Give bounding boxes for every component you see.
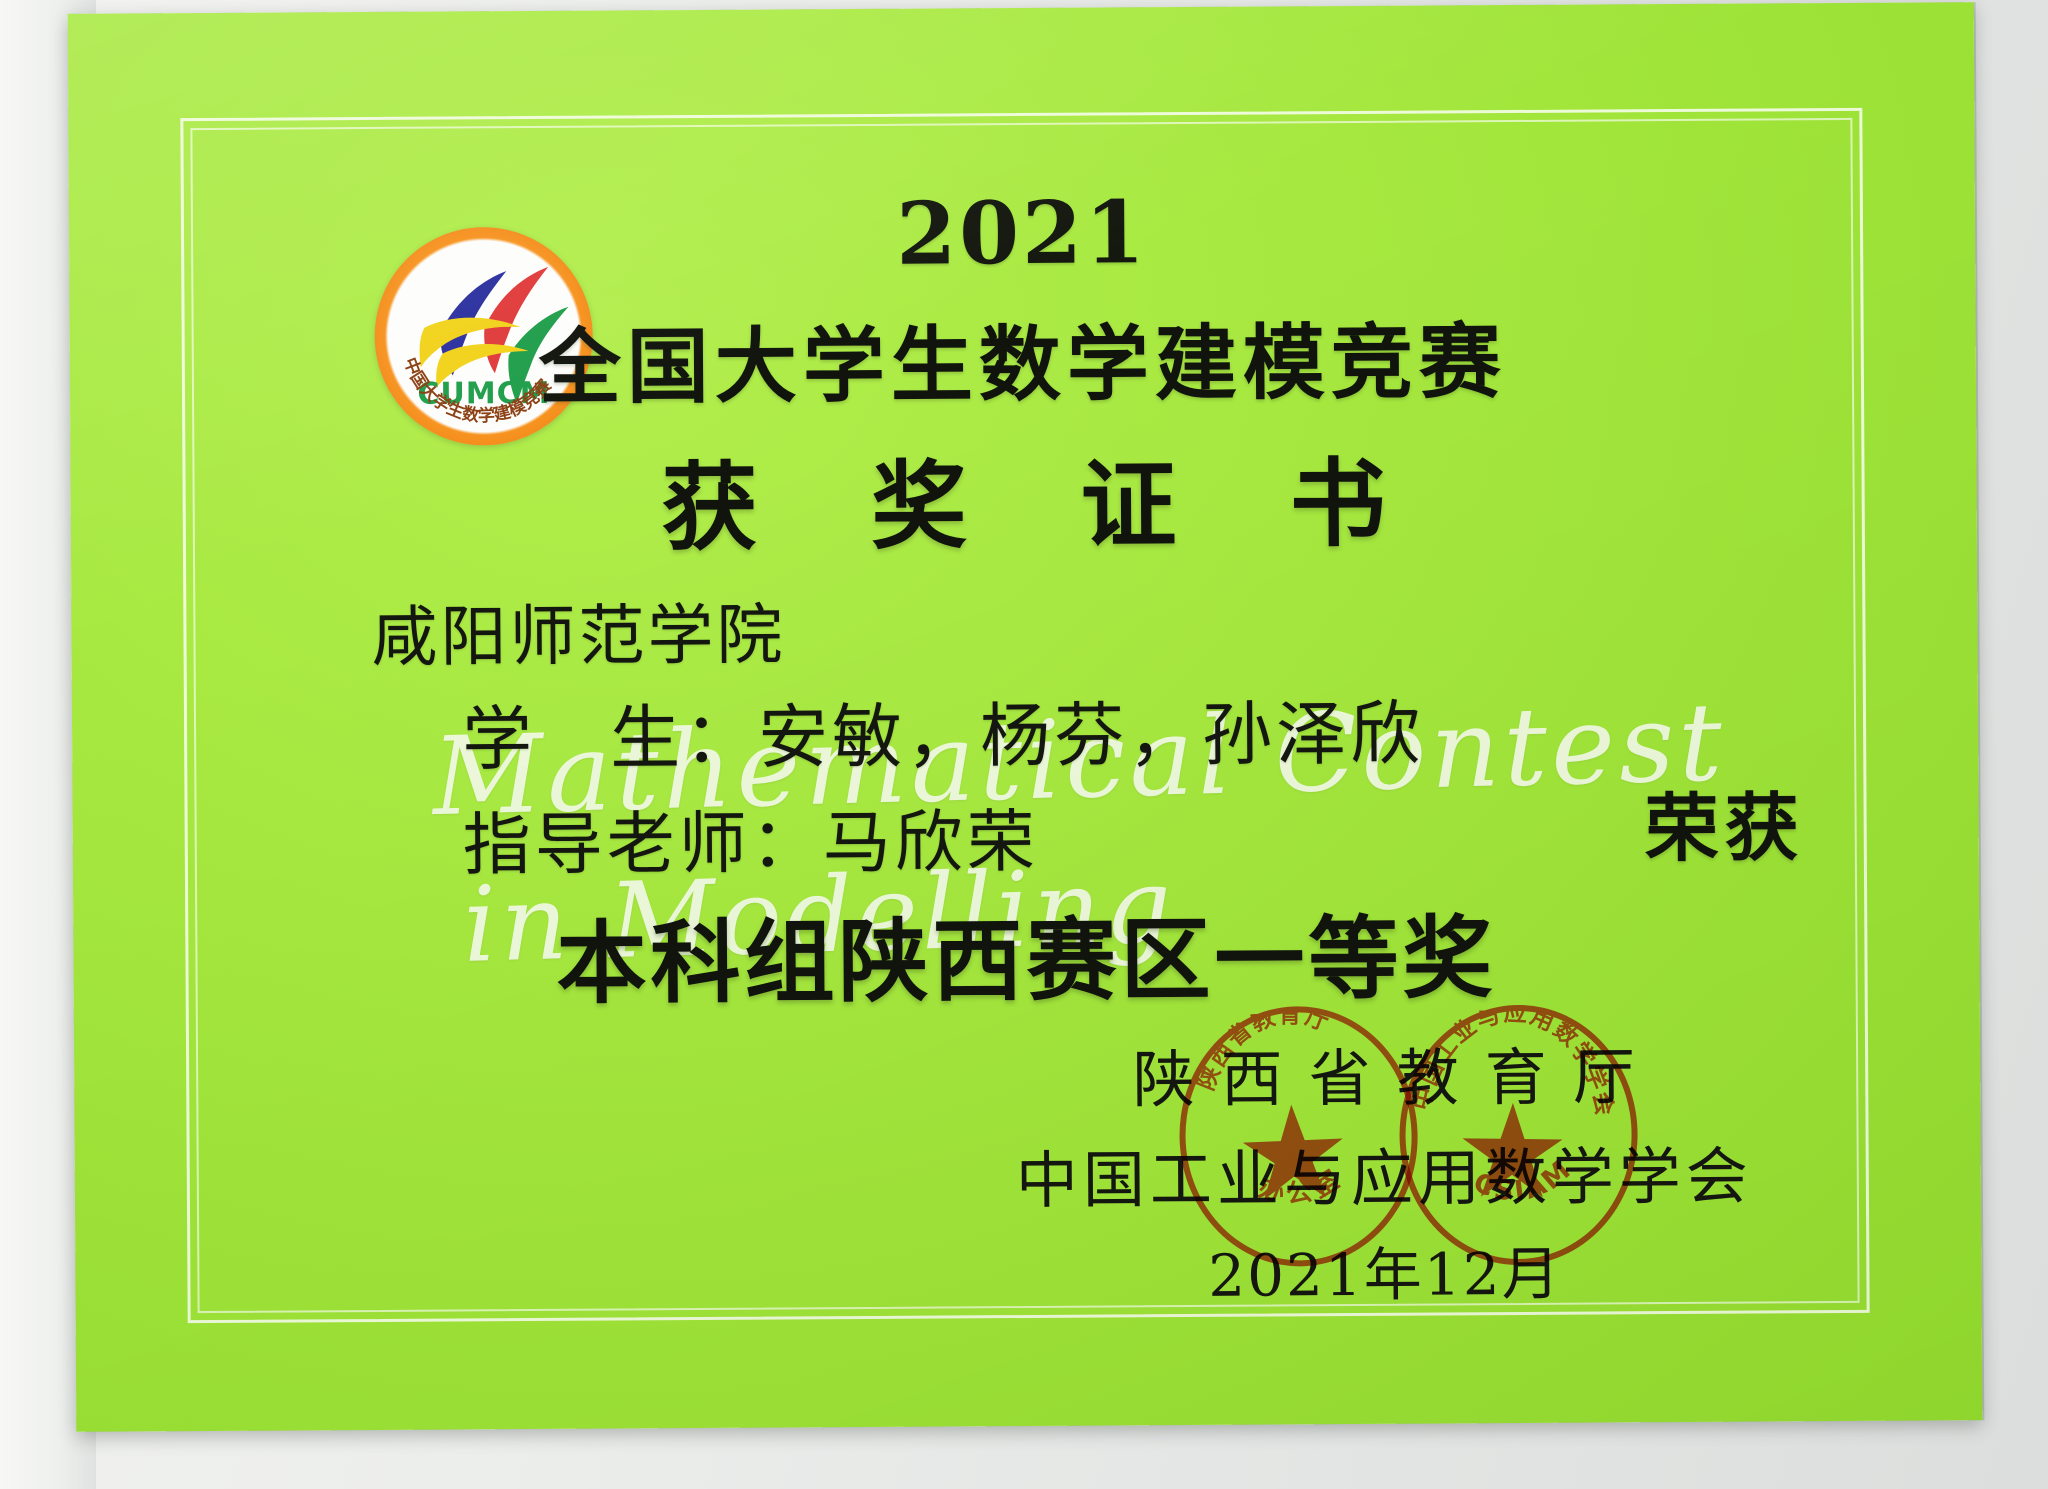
students-line: 学 生：安敏，杨芬，孙泽欣 <box>462 678 1425 785</box>
csiam-stamp: 中国工业与应用数学学会 CSIAM <box>1398 1004 1639 1267</box>
advisor-line: 指导老师：马欣荣 <box>462 786 1039 889</box>
competition-name: 全国大学生数学建模竞赛 <box>69 292 1976 423</box>
awarded-verb: 荣获 <box>1644 768 1805 876</box>
certificate-photo: Mathematical Contest in Modelling <box>0 0 2048 1489</box>
svg-text:陕西省教育厅: 陕西省教育厅 <box>1189 1008 1337 1095</box>
certificate-card: Mathematical Contest in Modelling <box>68 2 1983 1432</box>
shaanxi-education-department-stamp: 陕西省教育厅 办公室 <box>1174 1002 1422 1272</box>
award-name: 本科组陕西赛区一等奖 <box>73 882 1980 1024</box>
certificate-year: 2021 <box>69 177 1976 290</box>
svg-text:中国工业与应用数学学会: 中国工业与应用数学学会 <box>1409 1010 1620 1120</box>
school-name: 咸阳师范学院 <box>371 581 786 680</box>
certificate-title: 获 奖 证 书 <box>70 422 1977 573</box>
